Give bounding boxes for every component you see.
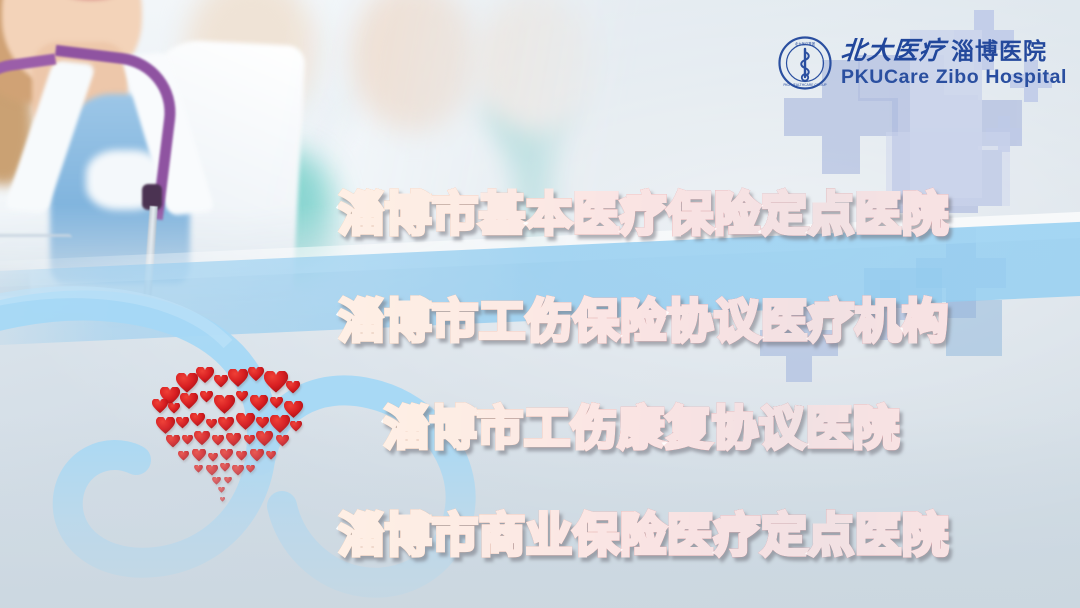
- headline-line-4-text: 淄博市商业保险医疗定点医院: [338, 508, 949, 562]
- headline-line-1-text: 淄博市基本医疗保险定点医院: [338, 187, 949, 241]
- headline-line-2-text: 淄博市工伤保险协议医疗机构: [338, 294, 949, 348]
- headline-group: 淄博市基本医疗保险定点医院 淄博市工伤保险协议医疗机构 淄博市工伤康复协议医院 …: [0, 0, 1080, 608]
- headline-line-3-text: 淄博市工伤康复协议医院: [383, 401, 900, 455]
- headline-line-2: 淄博市工伤保险协议医疗机构: [338, 285, 949, 351]
- poster-canvas: 北大医疗集团 PKU HEALTHCARE GROUP 北大医疗 淄博医院 PK…: [0, 0, 1080, 608]
- headline-line-1: 淄博市基本医疗保险定点医院: [338, 178, 949, 244]
- headline-line-3: 淄博市工伤康复协议医院: [383, 392, 900, 458]
- headline-line-4: 淄博市商业保险医疗定点医院: [338, 499, 949, 565]
